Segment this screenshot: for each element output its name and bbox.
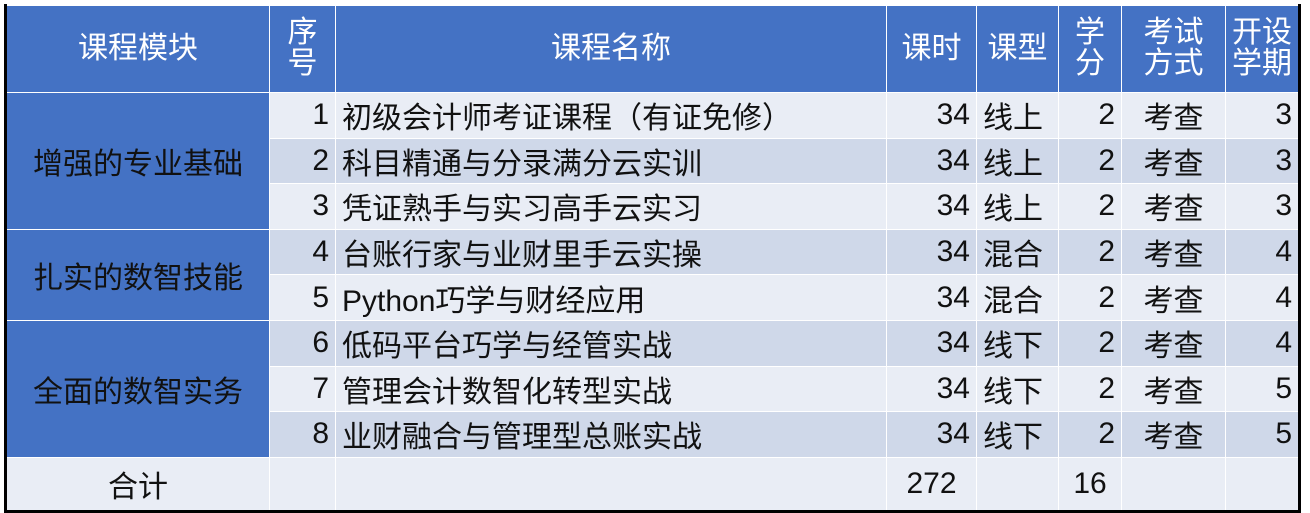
cell-term: 3 bbox=[1226, 138, 1300, 184]
cell-hours: 34 bbox=[887, 275, 977, 321]
cell-name: 管理会计数智化转型实战 bbox=[336, 366, 887, 412]
cell-hours: 34 bbox=[887, 229, 977, 275]
cell-hours: 34 bbox=[887, 320, 977, 366]
cell-term: 5 bbox=[1226, 412, 1300, 458]
cell-exam: 考查 bbox=[1122, 229, 1226, 275]
header-term: 开设 学期 bbox=[1226, 5, 1300, 93]
total-credit: 16 bbox=[1059, 457, 1122, 511]
cell-seq: 8 bbox=[270, 412, 336, 458]
cell-seq: 1 bbox=[270, 93, 336, 139]
header-course-name: 课程名称 bbox=[336, 5, 887, 93]
cell-hours: 34 bbox=[887, 93, 977, 139]
cell-credit: 2 bbox=[1059, 184, 1122, 230]
cell-term: 5 bbox=[1226, 366, 1300, 412]
cell-exam: 考查 bbox=[1122, 366, 1226, 412]
total-exam bbox=[1122, 457, 1226, 511]
cell-exam: 考查 bbox=[1122, 320, 1226, 366]
cell-exam: 考查 bbox=[1122, 93, 1226, 139]
cell-exam: 考查 bbox=[1122, 184, 1226, 230]
total-hours: 272 bbox=[887, 457, 977, 511]
cell-seq: 7 bbox=[270, 366, 336, 412]
cell-seq: 5 bbox=[270, 275, 336, 321]
header-term-line2: 学期 bbox=[1232, 49, 1292, 80]
cell-term: 4 bbox=[1226, 320, 1300, 366]
cell-credit: 2 bbox=[1059, 275, 1122, 321]
header-course-type: 课型 bbox=[977, 5, 1059, 93]
header-credit-line2: 分 bbox=[1065, 49, 1115, 80]
total-seq bbox=[270, 457, 336, 511]
total-type bbox=[977, 457, 1059, 511]
cell-name: 科目精通与分录满分云实训 bbox=[336, 138, 887, 184]
cell-exam: 考查 bbox=[1122, 138, 1226, 184]
table-header-row: 课程模块 序 号 课程名称 课时 课型 学 分 考试 方式 开设 bbox=[6, 5, 1300, 93]
cell-name: 台账行家与业财里手云实操 bbox=[336, 229, 887, 275]
cell-type: 线上 bbox=[977, 93, 1059, 139]
cell-credit: 2 bbox=[1059, 412, 1122, 458]
cell-seq: 6 bbox=[270, 320, 336, 366]
cell-exam: 考查 bbox=[1122, 412, 1226, 458]
cell-name: 业财融合与管理型总账实战 bbox=[336, 412, 887, 458]
cell-hours: 34 bbox=[887, 412, 977, 458]
cell-hours: 34 bbox=[887, 184, 977, 230]
course-plan-table-container: 课程模块 序 号 课程名称 课时 课型 学 分 考试 方式 开设 bbox=[0, 0, 1310, 496]
total-label: 合计 bbox=[6, 457, 270, 511]
table-row: 扎实的数智技能 4 台账行家与业财里手云实操 34 混合 2 考查 4 bbox=[6, 229, 1300, 275]
header-exam-method: 考试 方式 bbox=[1122, 5, 1226, 93]
cell-seq: 3 bbox=[270, 184, 336, 230]
cell-term: 3 bbox=[1226, 184, 1300, 230]
cell-credit: 2 bbox=[1059, 366, 1122, 412]
cell-type: 线下 bbox=[977, 320, 1059, 366]
cell-seq: 4 bbox=[270, 229, 336, 275]
cell-type: 线上 bbox=[977, 138, 1059, 184]
header-exam-line2: 方式 bbox=[1128, 49, 1219, 80]
header-term-line1: 开设 bbox=[1232, 18, 1292, 49]
cell-type: 线上 bbox=[977, 184, 1059, 230]
cell-type: 线下 bbox=[977, 366, 1059, 412]
cell-hours: 34 bbox=[887, 366, 977, 412]
cell-credit: 2 bbox=[1059, 320, 1122, 366]
course-plan-table: 课程模块 序 号 课程名称 课时 课型 学 分 考试 方式 开设 bbox=[4, 4, 1301, 513]
header-seq-line2: 号 bbox=[276, 49, 329, 80]
cell-name: 凭证熟手与实习高手云实习 bbox=[336, 184, 887, 230]
header-credit: 学 分 bbox=[1059, 5, 1122, 93]
table-row: 增强的专业基础 1 初级会计师考证课程（有证免修） 34 线上 2 考查 3 bbox=[6, 93, 1300, 139]
module-cell: 增强的专业基础 bbox=[6, 93, 270, 230]
total-term bbox=[1226, 457, 1300, 511]
cell-term: 3 bbox=[1226, 93, 1300, 139]
total-name bbox=[336, 457, 887, 511]
header-seq-line1: 序 bbox=[276, 18, 329, 49]
module-cell: 扎实的数智技能 bbox=[6, 229, 270, 320]
cell-name: Python巧学与财经应用 bbox=[336, 275, 887, 321]
cell-name: 初级会计师考证课程（有证免修） bbox=[336, 93, 887, 139]
cell-type: 线下 bbox=[977, 412, 1059, 458]
table-total-row: 合计 272 16 bbox=[6, 457, 1300, 511]
cell-name: 低码平台巧学与经管实战 bbox=[336, 320, 887, 366]
cell-seq: 2 bbox=[270, 138, 336, 184]
cell-type: 混合 bbox=[977, 275, 1059, 321]
cell-credit: 2 bbox=[1059, 229, 1122, 275]
header-module: 课程模块 bbox=[6, 5, 270, 93]
header-exam-line1: 考试 bbox=[1128, 18, 1219, 49]
cell-exam: 考查 bbox=[1122, 275, 1226, 321]
cell-term: 4 bbox=[1226, 229, 1300, 275]
module-cell: 全面的数智实务 bbox=[6, 320, 270, 457]
table-row: 全面的数智实务 6 低码平台巧学与经管实战 34 线下 2 考查 4 bbox=[6, 320, 1300, 366]
header-credit-line1: 学 bbox=[1065, 18, 1115, 49]
cell-type: 混合 bbox=[977, 229, 1059, 275]
cell-hours: 34 bbox=[887, 138, 977, 184]
cell-term: 4 bbox=[1226, 275, 1300, 321]
cell-credit: 2 bbox=[1059, 93, 1122, 139]
header-hours: 课时 bbox=[887, 5, 977, 93]
header-seq: 序 号 bbox=[270, 5, 336, 93]
cell-credit: 2 bbox=[1059, 138, 1122, 184]
